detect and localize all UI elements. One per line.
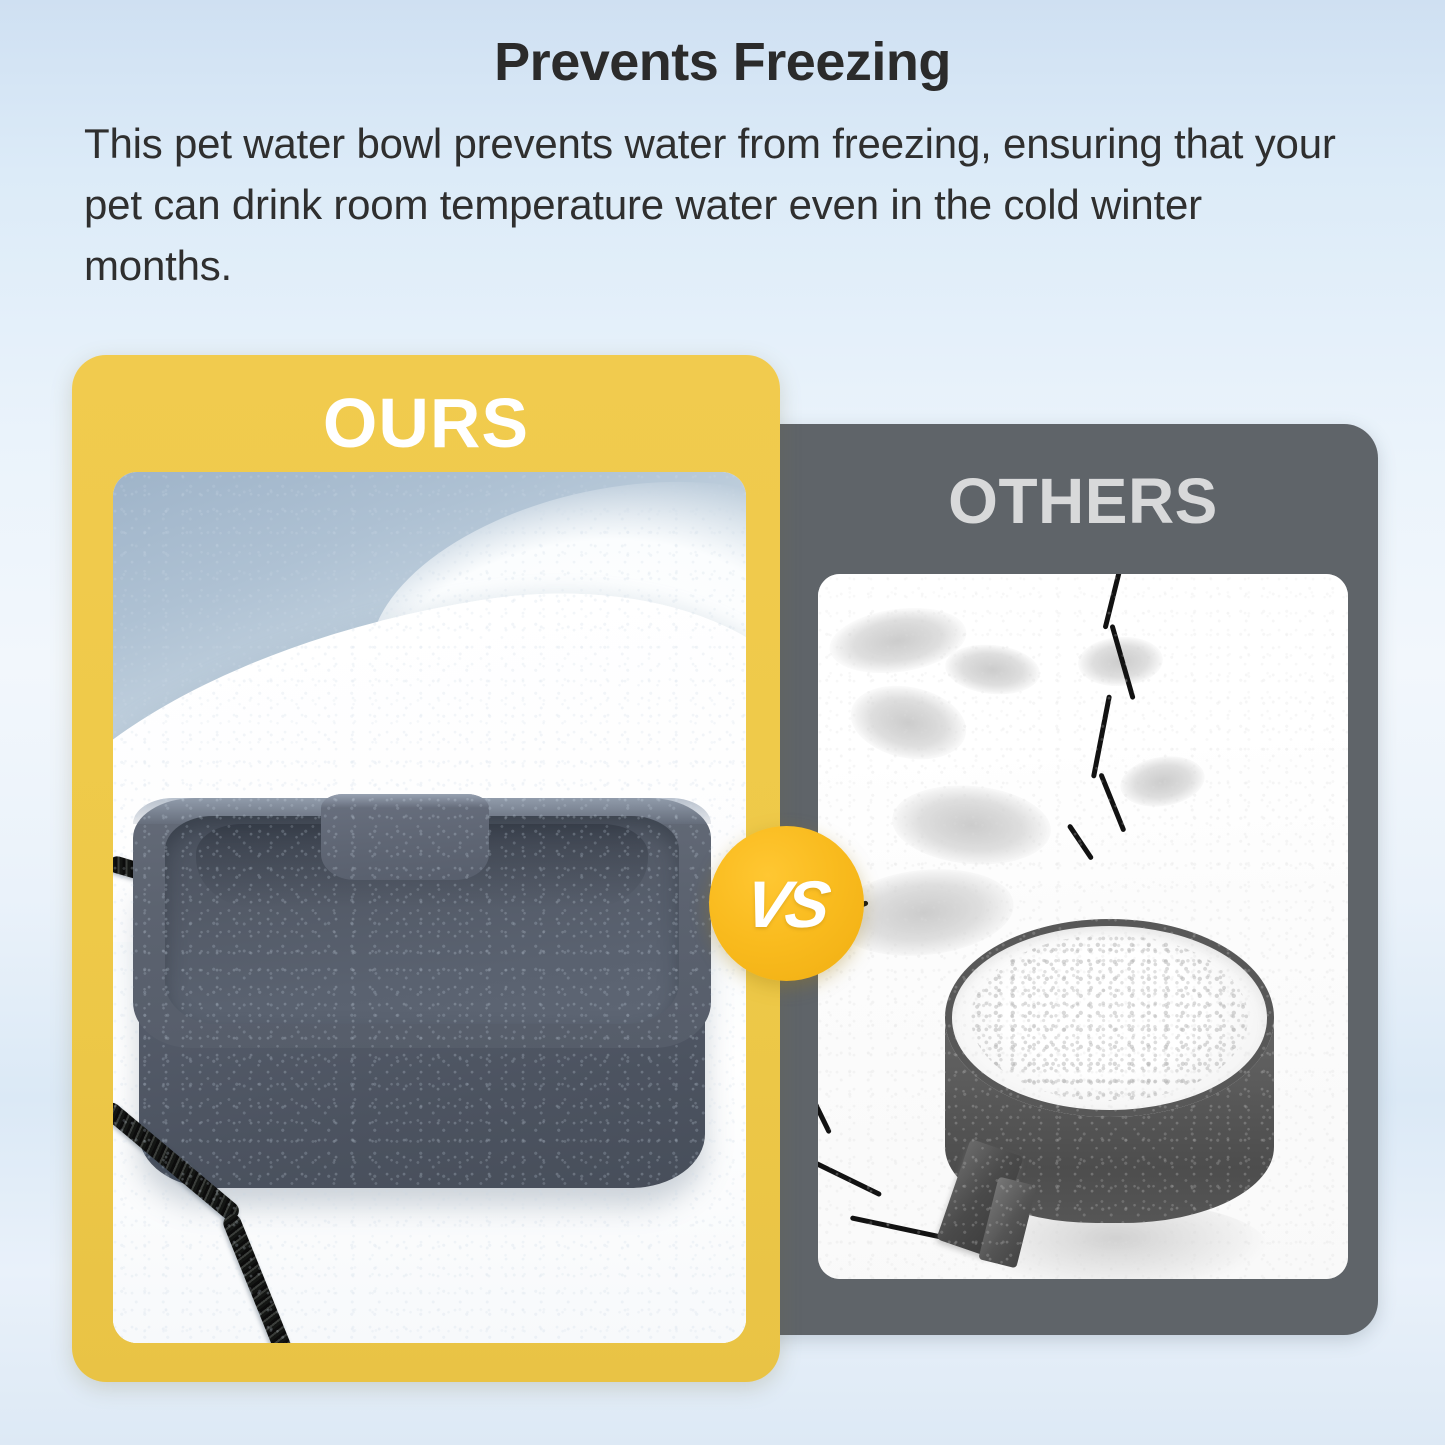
ours-comparison-card: OURS [72, 355, 780, 1382]
page-title: Prevents Freezing [84, 34, 1361, 91]
competitor-round-bowl [945, 919, 1274, 1272]
ice-texture [971, 935, 1247, 1101]
notch-highlight [321, 794, 489, 808]
versus-badge-label: VS [741, 866, 832, 942]
infographic-canvas: Prevents Freezing This pet water bowl pr… [0, 0, 1445, 1445]
others-card-label: OTHERS [700, 464, 1378, 538]
others-product-photo [818, 574, 1348, 1279]
header-block: Prevents Freezing This pet water bowl pr… [0, 0, 1445, 297]
page-subtitle: This pet water bowl prevents water from … [84, 113, 1361, 297]
snow-patch [889, 779, 1054, 870]
ours-product-photo [113, 472, 746, 1343]
ours-card-label: OURS [72, 383, 780, 463]
power-cord-segment [818, 1149, 882, 1197]
bowl-rim-notch [321, 794, 489, 880]
power-cord-segment [818, 1050, 832, 1135]
power-cord-segment [1091, 694, 1112, 778]
ours-snow-scene [113, 472, 746, 1343]
power-cord-segment [1102, 574, 1122, 630]
versus-badge: VS [709, 826, 864, 981]
snow-patch [1117, 751, 1208, 813]
frozen-ice-surface [945, 919, 1274, 1116]
others-snow-scene [818, 574, 1348, 1279]
power-cord-segment [1066, 823, 1094, 861]
heated-pet-water-bowl [117, 772, 725, 1210]
snow-patch [943, 640, 1043, 699]
snow-patch [844, 675, 973, 768]
